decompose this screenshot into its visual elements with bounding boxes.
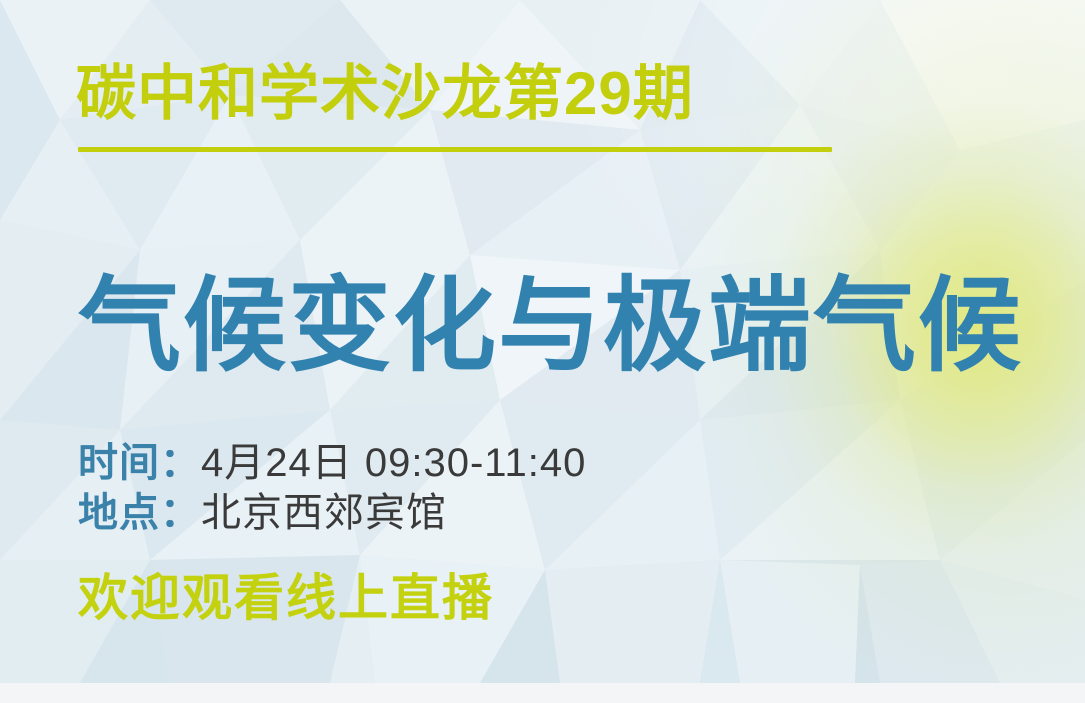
location-value: 北京西郊宾馆 — [201, 491, 447, 535]
poster-headline: 气候变化与极端气候 — [78, 269, 1023, 382]
page-bottom-strip — [0, 683, 1085, 703]
poster-details: 时间：4月24日 09:30-11:40 地点：北京西郊宾馆 — [78, 438, 586, 538]
poster-content: 碳中和学术沙龙第29期 气候变化与极端气候 时间：4月24日 09:30-11:… — [0, 0, 1085, 683]
detail-row-time: 时间：4月24日 09:30-11:40 — [78, 438, 586, 488]
time-value: 4月24日 09:30-11:40 — [201, 441, 586, 485]
kicker-underline — [78, 147, 832, 152]
time-label: 时间： — [78, 441, 201, 485]
poster-image: 碳中和学术沙龙第29期 气候变化与极端气候 时间：4月24日 09:30-11:… — [0, 0, 1085, 683]
poster-screenshot: 碳中和学术沙龙第29期 气候变化与极端气候 时间：4月24日 09:30-11:… — [0, 0, 1085, 703]
detail-row-location: 地点：北京西郊宾馆 — [78, 488, 586, 538]
poster-kicker: 碳中和学术沙龙第29期 — [76, 62, 694, 127]
location-label: 地点： — [78, 491, 201, 535]
livestream-cta: 欢迎观看线上直播 — [78, 558, 494, 630]
